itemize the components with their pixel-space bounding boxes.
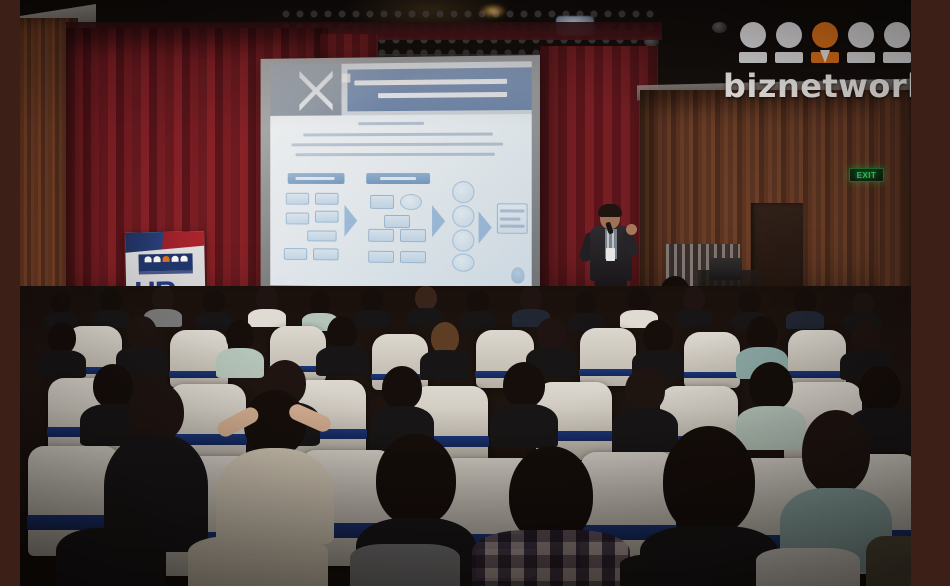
attendee-head <box>851 320 881 354</box>
slide-chevron-arrow <box>344 205 357 237</box>
attendee-head <box>520 286 543 311</box>
attendee <box>44 292 78 326</box>
attendee-head <box>683 286 705 311</box>
presentation-slide <box>270 61 531 288</box>
attendee-head <box>852 292 874 315</box>
projection-screen <box>261 55 540 297</box>
speaker-hair <box>598 204 622 217</box>
attendee-head <box>361 288 383 312</box>
attendee-head <box>859 366 901 412</box>
attendee-head <box>327 316 357 350</box>
logo-person-accent <box>811 22 839 63</box>
banner-logo-person <box>144 256 151 262</box>
attendee-shoulders <box>490 404 558 448</box>
attendee-head <box>128 382 184 442</box>
logo-person-head <box>776 22 802 48</box>
logo-person-body <box>883 52 911 63</box>
slide-diagram-box <box>315 211 339 223</box>
conference-photograph: HR SUMMIT EXIT <box>20 0 911 586</box>
slide-diagram-circle <box>452 205 474 227</box>
speaker-badge <box>606 248 615 261</box>
slide-diagram-box <box>368 251 394 263</box>
attendee-foreground <box>620 554 740 586</box>
slide-body-line <box>500 209 525 212</box>
attendee-shoulders <box>56 528 166 586</box>
slide-body-line <box>500 217 520 220</box>
logo-person <box>775 22 803 63</box>
logo-person <box>739 22 767 63</box>
attendee-head <box>503 362 545 408</box>
attendee-head <box>628 288 651 312</box>
attendee-head <box>643 320 673 354</box>
attendee-head <box>310 292 331 315</box>
logo-person-head <box>884 22 910 48</box>
banner-logo-underline <box>139 270 193 274</box>
attendee-head <box>244 390 306 456</box>
five-people-row-icon <box>739 22 911 63</box>
slide-diagram-box <box>368 229 394 242</box>
slide-body-line <box>295 153 494 156</box>
slide-diagram-box <box>400 251 426 263</box>
attendee-shoulders <box>188 536 328 586</box>
slide-diagram-box <box>315 193 339 205</box>
banner-logo-icon <box>138 253 192 271</box>
slide-diagram-circle <box>452 181 474 203</box>
attendee-head <box>203 290 225 314</box>
photo-border-frame: HR SUMMIT EXIT <box>0 0 950 586</box>
attendee-head <box>382 366 422 410</box>
logo-person <box>883 22 911 63</box>
logo-person-head <box>812 22 838 48</box>
slide-body-line <box>500 225 525 228</box>
slide-diagram-circle <box>452 229 474 251</box>
attendee-head <box>576 292 597 315</box>
attendee-shoulders <box>216 448 334 544</box>
slide-section-bar-b <box>366 173 430 184</box>
attendee-foreground <box>56 528 166 586</box>
slide-body-line <box>303 133 493 137</box>
slide-diagram-box <box>307 230 336 241</box>
slide-diagram-box <box>384 215 410 228</box>
logo-person-head <box>740 22 766 48</box>
banner-logo-person <box>153 256 160 262</box>
biznetwork-wordmark: biznetwork <box>723 70 911 102</box>
attendee-foreground <box>866 536 911 586</box>
attendee-foreground <box>472 446 630 586</box>
speaker-hand <box>626 224 637 235</box>
attendee <box>408 286 444 326</box>
attendee-shoulders <box>316 346 368 376</box>
logo-person-body <box>739 52 767 63</box>
slide-diagram-box <box>286 193 309 205</box>
exit-sign: EXIT <box>849 168 884 182</box>
exit-sign-label: EXIT <box>857 171 877 180</box>
attendee-shoulders <box>350 544 460 586</box>
attendee-head <box>256 286 279 311</box>
attendee-head <box>152 286 175 311</box>
attendee-head <box>100 288 122 312</box>
attendee-shoulders <box>866 536 911 586</box>
slide-corner-logo-icon <box>342 74 351 83</box>
slide-watermark-icon <box>511 267 524 283</box>
warm-ceiling-glow <box>480 4 506 18</box>
slide-diagram-box <box>284 248 307 260</box>
attendee-head <box>51 292 71 314</box>
logo-person-body <box>847 52 875 63</box>
logo-person-head <box>848 22 874 48</box>
slide-section-label <box>295 177 334 180</box>
attendee <box>786 288 824 328</box>
slide-section-label <box>380 177 416 180</box>
banner-logo-person <box>171 256 178 262</box>
attendee <box>490 362 558 448</box>
banner-logo-person <box>180 256 187 262</box>
slide-diagram-circle <box>400 194 422 210</box>
attendee-shoulders <box>38 350 86 378</box>
attendee-head <box>749 362 793 410</box>
slide-body-line <box>358 122 424 125</box>
attendee-head <box>376 434 456 526</box>
slide-chevron-arrow <box>479 211 492 243</box>
slide-chevron-arrow <box>432 205 445 237</box>
audience-area <box>20 286 911 586</box>
attendee-head <box>739 290 761 314</box>
slide-title-bar <box>347 67 532 111</box>
attendee-head <box>747 316 778 351</box>
attendee-shoulders <box>620 554 740 586</box>
slide-hourglass-graphic <box>299 66 332 116</box>
attendee-head <box>127 316 157 350</box>
attendee-foreground <box>188 536 328 586</box>
attendee-shoulders <box>756 548 860 586</box>
attendee-head <box>802 410 870 494</box>
slide-diagram-circle <box>452 253 474 271</box>
attendee <box>316 316 368 378</box>
attendee-head <box>663 426 755 536</box>
biznetwork-logo: biznetwork <box>723 22 911 106</box>
attendee <box>38 322 86 380</box>
slide-section-bar-a <box>288 173 345 184</box>
slide-diagram-box <box>313 248 339 260</box>
attendee-head <box>625 368 665 412</box>
av-monitor <box>710 258 742 280</box>
banner-top-stripe <box>125 231 206 253</box>
slide-diagram-box <box>400 229 426 242</box>
slide-body-line <box>292 143 503 147</box>
attendee-foreground <box>756 548 860 586</box>
banner-logo-person-accent <box>162 256 169 262</box>
slide-diagram-box <box>286 213 309 225</box>
attendee-head <box>794 288 817 313</box>
logo-person-body <box>775 52 803 63</box>
logo-person-body <box>811 52 839 63</box>
slide-diagram-box <box>370 195 394 209</box>
chair <box>684 332 740 388</box>
attendee-foreground <box>350 544 460 586</box>
attendee-shoulders <box>786 311 824 329</box>
attendee-head <box>467 290 489 313</box>
attendee-foreground <box>104 382 208 552</box>
logo-tie-icon <box>820 50 830 63</box>
logo-person <box>847 22 875 63</box>
attendee-head <box>415 286 437 310</box>
attendee-shoulders <box>472 530 630 586</box>
